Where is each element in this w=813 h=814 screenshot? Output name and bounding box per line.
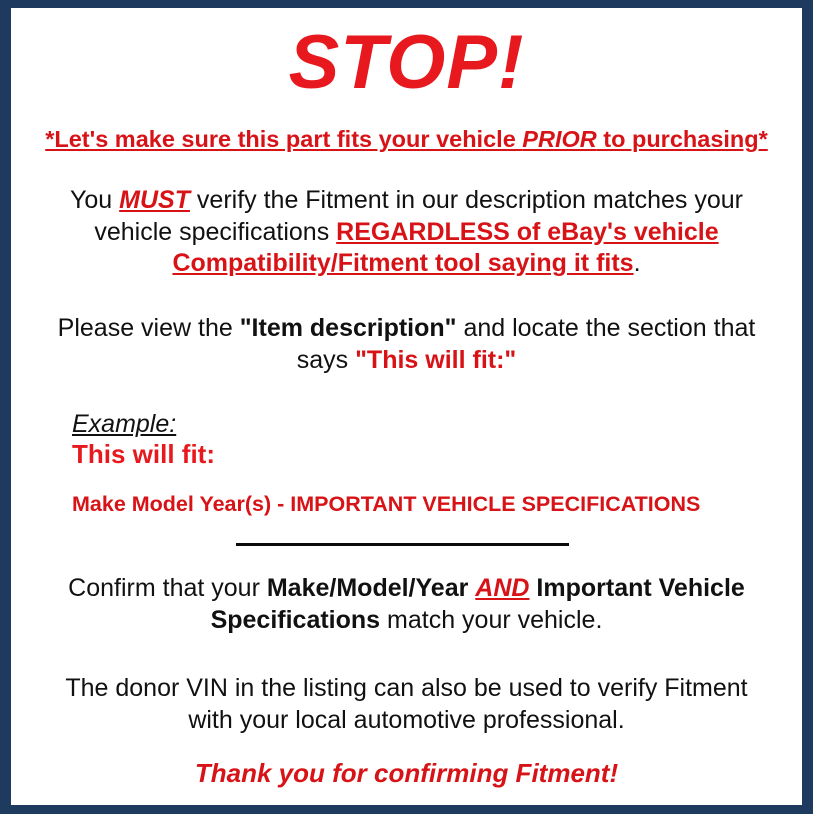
confirm-part-4: match your vehicle.	[380, 606, 602, 634]
must-part-3: .	[634, 249, 641, 277]
and-emphasis: AND	[475, 574, 529, 602]
tagline-after: to purchasing*	[597, 126, 768, 152]
tagline: *Let's make sure this part fits your veh…	[25, 101, 788, 153]
fitment-notice-card: STOP! *Let's make sure this part fits yo…	[0, 0, 813, 814]
divider-wrap	[25, 516, 788, 546]
tagline-prior-emphasis: PRIOR	[522, 126, 596, 152]
confirm-paragraph: Confirm that your Make/Model/Year AND Im…	[25, 546, 788, 637]
make-model-year-emphasis: Make/Model/Year	[267, 574, 468, 602]
page-title: STOP!	[25, 8, 788, 101]
item-description-emphasis: "Item description"	[240, 314, 457, 342]
view-description-paragraph: Please view the "Item description" and l…	[25, 280, 788, 377]
confirm-part-1: Confirm that your	[68, 574, 267, 602]
example-block: Example: This will fit: Make Model Year(…	[25, 377, 788, 517]
must-verify-paragraph: You MUST verify the Fitment in our descr…	[25, 153, 788, 280]
must-part-1: You	[70, 186, 119, 214]
donor-vin-paragraph: The donor VIN in the listing can also be…	[25, 637, 788, 737]
example-label: Example:	[72, 411, 788, 437]
example-spec-line: Make Model Year(s) - IMPORTANT VEHICLE S…	[72, 470, 788, 517]
tagline-before: *Let's make sure this part fits your veh…	[45, 126, 522, 152]
view-part-1: Please view the	[58, 314, 240, 342]
notice-inner: STOP! *Let's make sure this part fits yo…	[11, 8, 802, 805]
example-fit-heading: This will fit:	[72, 437, 788, 470]
thanks-message: Thank you for confirming Fitment!	[25, 736, 788, 789]
this-will-fit-emphasis: "This will fit:"	[355, 346, 516, 374]
must-emphasis: MUST	[119, 186, 190, 214]
